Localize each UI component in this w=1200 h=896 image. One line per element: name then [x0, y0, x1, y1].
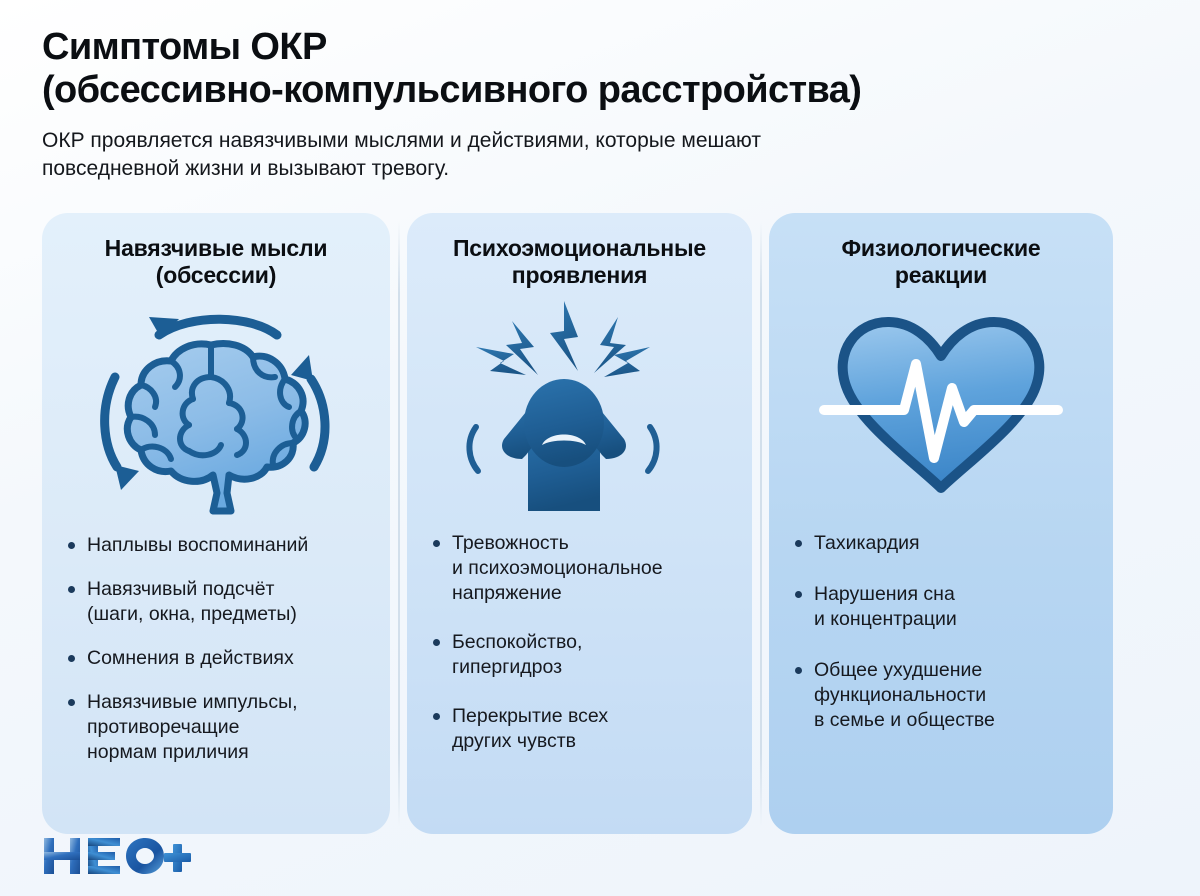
infographic-page: Симптомы ОКР (обсессивно-компульсивного … [0, 0, 1200, 896]
list-item: Сомнения в действиях [66, 646, 366, 671]
card-title: Навязчивые мысли (обсессии) [66, 235, 366, 293]
card-psychoemotional: Психоэмоциональные проявления [407, 213, 752, 834]
list-item: Тревожность и психоэмоциональное напряже… [431, 531, 728, 606]
card-divider [760, 221, 762, 826]
list-item: Нарушения сна и концентрации [793, 582, 1089, 632]
card-gap [390, 213, 407, 834]
card-gap [752, 213, 769, 834]
heart-pulse-icon [793, 295, 1089, 525]
card-physiological: Физиологические реакции [769, 213, 1113, 834]
card-divider [398, 221, 400, 826]
list-item: Тахикардия [793, 531, 1089, 556]
stressed-person-icon [431, 295, 728, 525]
card-title: Физиологические реакции [793, 235, 1089, 293]
header: Симптомы ОКР (обсессивно-компульсивного … [0, 0, 1200, 183]
page-title: Симптомы ОКР (обсессивно-компульсивного … [42, 26, 1160, 112]
symptom-cards-row: Навязчивые мысли (обсессии) [42, 213, 1160, 834]
list-item: Беспокойство, гипергидроз [431, 630, 728, 680]
card-obsessive-thoughts: Навязчивые мысли (обсессии) [42, 213, 390, 834]
card-title: Психоэмоциональные проявления [431, 235, 728, 293]
list-item: Навязчивый подсчёт (шаги, окна, предметы… [66, 577, 366, 627]
list-item: Перекрытие всех других чувств [431, 704, 728, 754]
brain-cycle-icon [66, 295, 366, 525]
neo-plus-logo [42, 834, 192, 878]
list-item: Навязчивые импульсы, противоречащие норм… [66, 690, 366, 765]
list-item: Наплывы воспоминаний [66, 533, 366, 558]
card-bullet-list: Тахикардия Нарушения сна и концентрации … [793, 531, 1089, 759]
page-subtitle: ОКР проявляется навязчивыми мыслями и де… [42, 127, 1082, 183]
list-item: Общее ухудшение функциональности в семье… [793, 658, 1089, 733]
card-bullet-list: Наплывы воспоминаний Навязчивый подсчёт … [66, 533, 366, 765]
card-bullet-list: Тревожность и психоэмоциональное напряже… [431, 531, 728, 778]
